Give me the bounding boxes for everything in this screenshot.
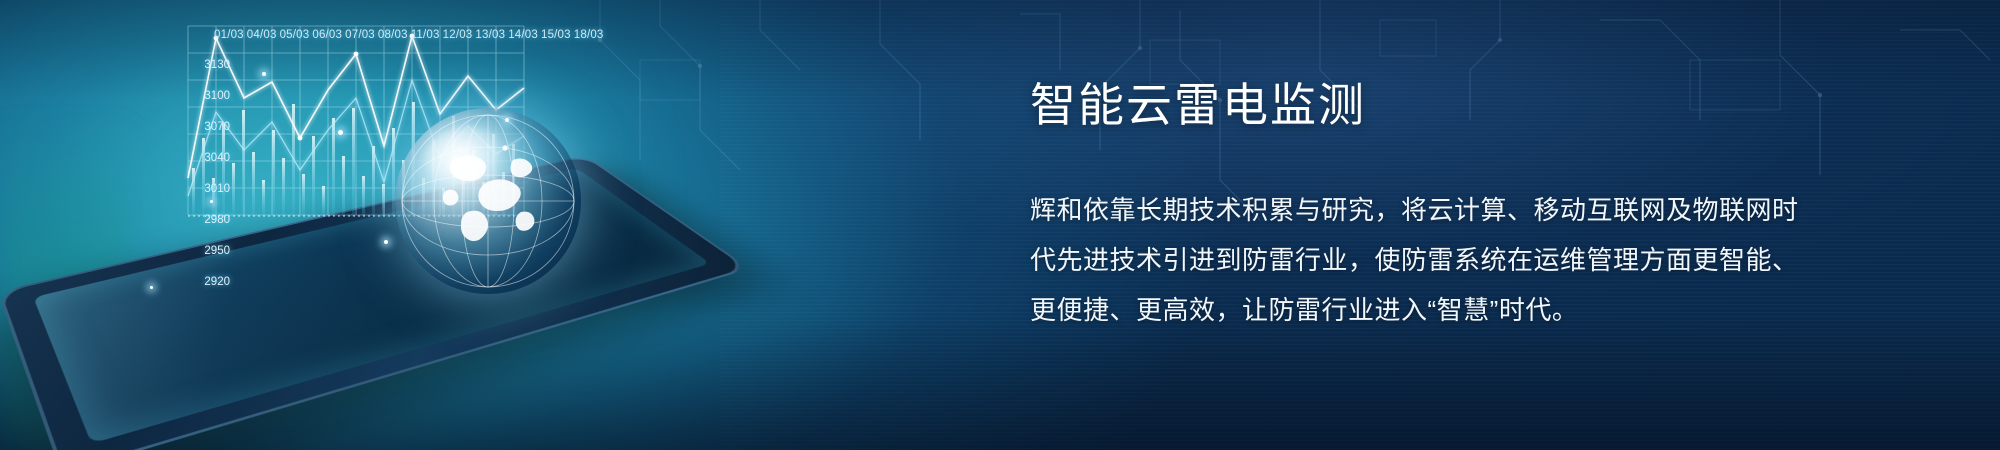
- spark-particle: [150, 286, 153, 289]
- x-tick: 12/03: [443, 29, 473, 41]
- hero-banner: 01/0304/0305/0306/0307/0308/0311/0312/03…: [0, 0, 2000, 450]
- x-tick: 11/03: [411, 29, 440, 41]
- y-tick: 3040: [186, 153, 230, 165]
- x-tick: 07/03: [345, 29, 375, 41]
- spark-particle: [384, 240, 388, 244]
- x-tick: 18/03: [574, 29, 604, 41]
- description-line: 辉和依靠长期技术积累与研究，将云计算、移动互联网及物联网时: [1030, 185, 1970, 235]
- spark-particle: [338, 130, 343, 135]
- y-tick: 2950: [186, 246, 230, 258]
- x-tick: 15/03: [541, 29, 571, 41]
- spark-particle: [210, 200, 213, 203]
- chart-y-axis-labels: 3130 3100 3070 3040 3010 2980 2950 2920: [186, 60, 230, 308]
- x-tick: 05/03: [280, 29, 310, 41]
- page-title: 智能云雷电监测: [1030, 78, 1970, 133]
- x-tick: 06/03: [312, 29, 342, 41]
- spark-particle: [262, 72, 266, 76]
- chart-x-axis-labels: 01/0304/0305/0306/0307/0308/0311/0312/03…: [214, 25, 634, 41]
- spark-particle: [505, 118, 509, 122]
- banner-text-block: 智能云雷电监测 辉和依靠长期技术积累与研究，将云计算、移动互联网及物联网时 代先…: [1030, 78, 1970, 335]
- y-tick: 3010: [186, 184, 230, 196]
- x-tick: 14/03: [508, 29, 538, 41]
- x-tick: 13/03: [475, 29, 505, 41]
- globe-icon: [395, 108, 581, 294]
- description-line: 更便捷、更高效，让防雷行业进入“智慧”时代。: [1030, 285, 1970, 335]
- x-tick: 04/03: [247, 29, 277, 41]
- x-tick: 01/03: [214, 29, 244, 41]
- banner-description: 辉和依靠长期技术积累与研究，将云计算、移动互联网及物联网时 代先进技术引进到防雷…: [1030, 185, 1970, 335]
- y-tick: 2980: [186, 215, 230, 227]
- x-tick: 08/03: [378, 29, 408, 41]
- description-line: 代先进技术引进到防雷行业，使防雷系统在运维管理方面更智能、: [1030, 235, 1970, 285]
- y-tick: 2920: [186, 277, 230, 289]
- y-tick: 3070: [186, 122, 230, 134]
- y-tick: 3100: [186, 91, 230, 103]
- globe-highlight: [425, 127, 511, 190]
- y-tick: 3130: [186, 60, 230, 72]
